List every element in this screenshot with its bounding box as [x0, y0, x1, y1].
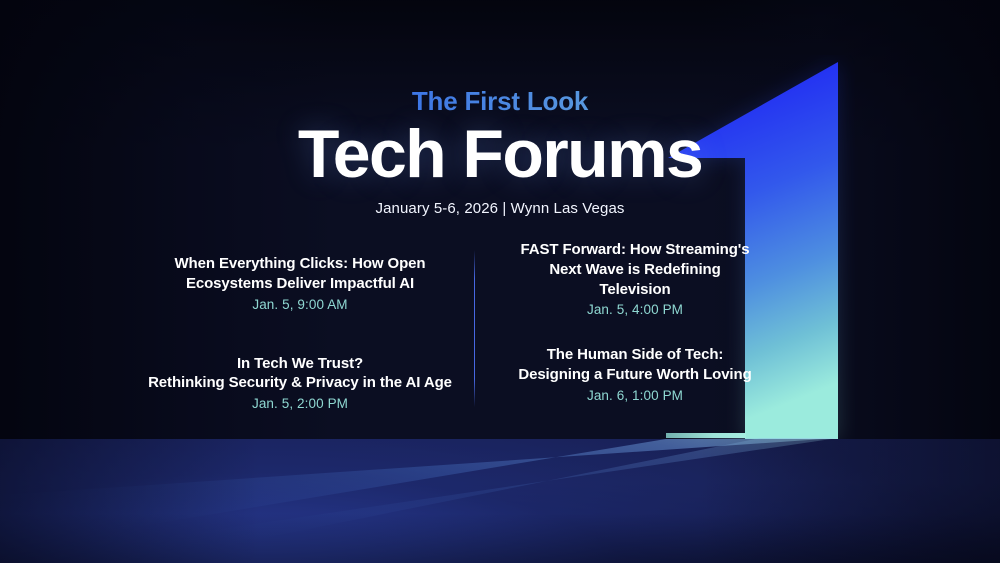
column-divider — [474, 250, 475, 407]
session-time: Jan. 6, 1:00 PM — [490, 388, 780, 403]
page-title: Tech Forums — [0, 118, 1000, 190]
session-title-line: Television — [490, 280, 780, 300]
content-layer: The First Look Tech Forums January 5-6, … — [0, 0, 1000, 563]
event-date-venue: January 5-6, 2026 | Wynn Las Vegas — [0, 200, 1000, 217]
session-title: When Everything Clicks: How Open Ecosyst… — [140, 254, 460, 294]
session-time: Jan. 5, 9:00 AM — [140, 297, 460, 312]
session-title-line: In Tech We Trust? — [140, 354, 460, 374]
event-eyebrow: The First Look — [0, 86, 1000, 117]
session-time: Jan. 5, 4:00 PM — [490, 302, 780, 317]
session-card[interactable]: When Everything Clicks: How Open Ecosyst… — [140, 254, 460, 312]
session-title-line: Designing a Future Worth Loving — [490, 365, 780, 385]
session-title-line: FAST Forward: How Streaming's — [490, 240, 780, 260]
session-card[interactable]: FAST Forward: How Streaming's Next Wave … — [490, 240, 780, 317]
session-title: The Human Side of Tech: Designing a Futu… — [490, 345, 780, 385]
session-title-line: Ecosystems Deliver Impactful AI — [140, 274, 460, 294]
session-card[interactable]: In Tech We Trust? Rethinking Security & … — [140, 354, 460, 412]
event-keyart-slide: The First Look Tech Forums January 5-6, … — [0, 0, 1000, 563]
session-title-line: Rethinking Security & Privacy in the AI … — [140, 373, 460, 393]
session-time: Jan. 5, 2:00 PM — [140, 396, 460, 411]
session-title-line: The Human Side of Tech: — [490, 345, 780, 365]
session-title-line: Next Wave is Redefining — [490, 260, 780, 280]
session-title-line: When Everything Clicks: How Open — [140, 254, 460, 274]
session-title: FAST Forward: How Streaming's Next Wave … — [490, 240, 780, 299]
session-column-right: FAST Forward: How Streaming's Next Wave … — [490, 240, 780, 403]
session-title: In Tech We Trust? Rethinking Security & … — [140, 354, 460, 394]
session-column-left: When Everything Clicks: How Open Ecosyst… — [140, 240, 460, 411]
session-card[interactable]: The Human Side of Tech: Designing a Futu… — [490, 345, 780, 403]
